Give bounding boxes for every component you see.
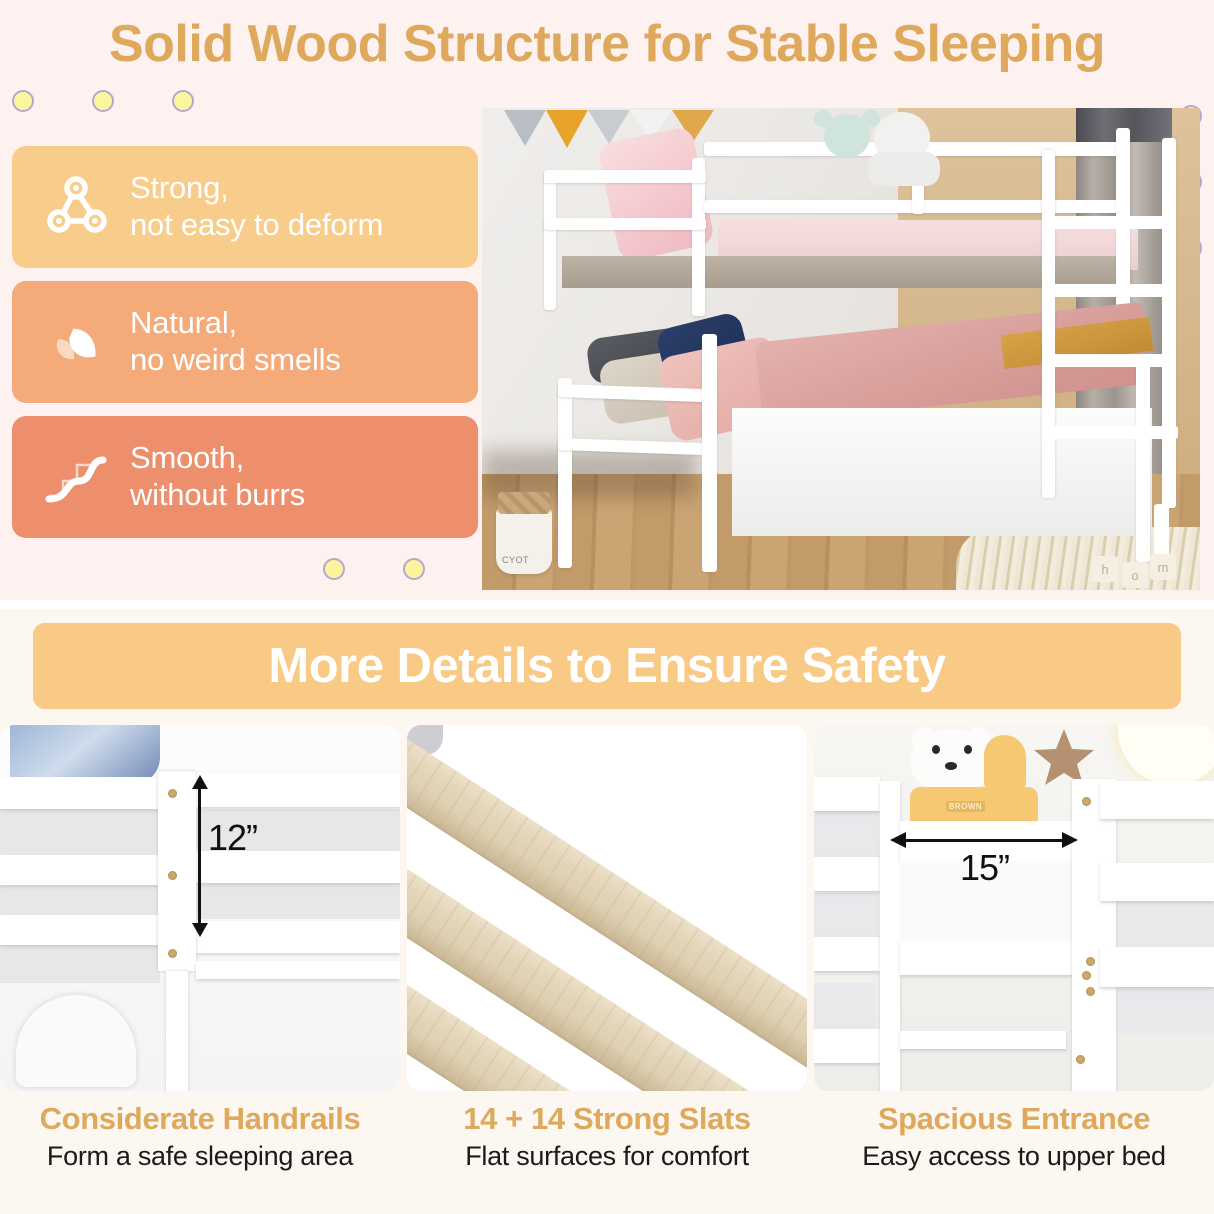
plush-body	[868, 152, 940, 186]
screw-icon	[168, 789, 177, 798]
bed-post-lower	[702, 334, 717, 572]
mattress-texture	[1100, 987, 1214, 1033]
handrail-bar	[0, 777, 172, 809]
feature-line-2: no weird smells	[130, 342, 341, 379]
panel-title: Considerate Handrails	[0, 1101, 400, 1137]
panel-subtitle: Form a safe sleeping area	[0, 1141, 400, 1172]
bed-post	[1072, 779, 1116, 1091]
ladder-step-wide	[900, 1031, 1066, 1049]
ladder-step	[814, 777, 880, 811]
feature-card-text: Strong, not easy to deform	[130, 170, 383, 243]
toy-block: o	[1122, 562, 1148, 588]
screw-icon	[168, 871, 177, 880]
molecule-triangle-icon	[26, 155, 130, 259]
panel-caption: Considerate Handrails Form a safe sleepi…	[0, 1091, 400, 1172]
bed-post-lower	[558, 378, 572, 568]
detail-panel-list: 12” Considerate Handrails Form a safe sl…	[0, 725, 1214, 1172]
feature-line-2: not easy to deform	[130, 207, 383, 244]
dimension-label-15in: 15”	[960, 847, 1009, 889]
bed-post	[544, 170, 556, 310]
section-safety-details: More Details to Ensure Safety	[0, 609, 1214, 1214]
screw-icon	[1076, 1055, 1085, 1064]
ladder-rail-right	[1162, 138, 1176, 508]
toy-block: m	[1150, 554, 1176, 580]
handrail-bar	[0, 915, 172, 945]
ladder-step	[814, 1029, 880, 1063]
ladder-step	[1048, 354, 1176, 367]
screw-icon	[1086, 957, 1095, 966]
mattress-texture	[814, 983, 876, 1029]
dimension-line-horizontal	[906, 839, 1064, 842]
slats-photo	[407, 725, 807, 1091]
flag-icon	[504, 110, 546, 146]
panel-caption: Spacious Entrance Easy access to upper b…	[814, 1091, 1214, 1172]
plush-ear-icon	[814, 110, 832, 127]
flag-icon	[546, 110, 588, 148]
infographic-page: Solid Wood Structure for Stable Sleeping	[0, 0, 1214, 1214]
safety-banner-title: More Details to Ensure Safety	[268, 638, 945, 694]
page-title: Solid Wood Structure for Stable Sleeping	[0, 14, 1214, 74]
guardrail-bar	[1100, 781, 1214, 819]
ladder-step	[1048, 284, 1174, 297]
handrail-bar	[196, 773, 400, 807]
dot-icon	[92, 90, 114, 112]
basket-contents	[498, 492, 550, 514]
detail-panel-slats: 14 + 14 Strong Slats Flat surfaces for c…	[407, 725, 807, 1172]
guardrail-bar	[1100, 863, 1214, 901]
handrail-bar	[0, 855, 172, 885]
basket-label: CYOT	[502, 555, 529, 565]
feature-line-1: Strong,	[130, 170, 383, 207]
handrail-photo: 12”	[0, 725, 400, 1091]
mattress-texture	[0, 807, 160, 859]
mattress-texture	[0, 943, 160, 983]
ladder-step	[1048, 426, 1178, 439]
mattress-texture	[1100, 901, 1214, 947]
screw-icon	[1086, 987, 1095, 996]
section-divider	[0, 600, 1214, 609]
ladder-rail-left	[1042, 150, 1055, 498]
bedding-blue-corner	[10, 725, 160, 785]
panel-title: 14 + 14 Strong Slats	[407, 1101, 807, 1137]
panel-title: Spacious Entrance	[814, 1101, 1214, 1137]
mattress-texture	[196, 877, 400, 919]
dot-icon	[403, 558, 425, 580]
mattress-texture	[814, 893, 878, 937]
detail-panel-entrance: BROWN	[814, 725, 1214, 1172]
product-photo-bunk-bed: CYOT h o m	[482, 108, 1200, 590]
screw-icon	[168, 949, 177, 958]
dimension-line-vertical	[198, 787, 201, 933]
detail-panel-handrails: 12” Considerate Handrails Form a safe sl…	[0, 725, 400, 1172]
ladder-step	[814, 857, 880, 891]
mattress-texture	[814, 811, 878, 857]
section-solid-wood: Solid Wood Structure for Stable Sleeping	[0, 0, 1214, 600]
storage-basket: CYOT	[496, 508, 552, 574]
feature-line-1: Smooth,	[130, 440, 305, 477]
smooth-curve-icon	[26, 425, 130, 529]
screw-icon	[1082, 797, 1091, 806]
mattress-upper-edge	[562, 256, 1122, 288]
bear-hood	[984, 735, 1026, 789]
feature-card-strong: Strong, not easy to deform	[12, 146, 478, 268]
guardrail-bar	[1100, 947, 1214, 987]
dimension-label-12in: 12”	[208, 817, 257, 859]
guardrail-bar	[900, 941, 1072, 975]
decorative-dots-bottom	[323, 558, 505, 580]
ladder-step	[1048, 216, 1172, 229]
feature-card-text: Natural, no weird smells	[130, 305, 341, 378]
panel-subtitle: Flat surfaces for comfort	[407, 1141, 807, 1172]
arrowhead-right-icon	[1062, 832, 1078, 848]
dot-icon	[323, 558, 345, 580]
feature-card-list: Strong, not easy to deform Natural, no w…	[12, 146, 478, 538]
feature-card-natural: Natural, no weird smells	[12, 281, 478, 403]
feature-line-2: without burrs	[130, 477, 305, 514]
feature-line-1: Natural,	[130, 305, 341, 342]
guardrail-top	[544, 170, 706, 183]
guardrail-mid	[544, 218, 706, 230]
panel-caption: 14 + 14 Strong Slats Flat surfaces for c…	[407, 1091, 807, 1172]
dot-icon	[12, 90, 34, 112]
toy-block: h	[1092, 556, 1118, 582]
leaf-icon	[26, 290, 130, 394]
ladder-step	[814, 937, 880, 971]
feature-card-smooth: Smooth, without burrs	[12, 416, 478, 538]
feature-card-text: Smooth, without burrs	[130, 440, 305, 513]
bear-nose-icon	[945, 762, 957, 770]
handrail-post	[158, 771, 196, 971]
panel-subtitle: Easy access to upper bed	[814, 1141, 1214, 1172]
plush-brand-label: BROWN	[946, 801, 985, 812]
decorative-dots-top-left	[12, 90, 194, 112]
arrowhead-left-icon	[890, 832, 906, 848]
safety-banner: More Details to Ensure Safety	[33, 623, 1181, 709]
arrowhead-up-icon	[192, 775, 208, 789]
bear-eye-icon	[964, 745, 972, 754]
bed-post-lower-right	[1136, 354, 1150, 562]
handrail-bar	[196, 961, 400, 979]
bear-eye-icon	[932, 745, 940, 754]
handrail-bar	[196, 921, 400, 953]
entrance-photo: BROWN	[814, 725, 1214, 1091]
ladder-rail	[880, 781, 900, 1091]
screw-icon	[1082, 971, 1091, 980]
handrail-post-lower	[166, 971, 188, 1091]
dot-icon	[172, 90, 194, 112]
arrowhead-down-icon	[192, 923, 208, 937]
